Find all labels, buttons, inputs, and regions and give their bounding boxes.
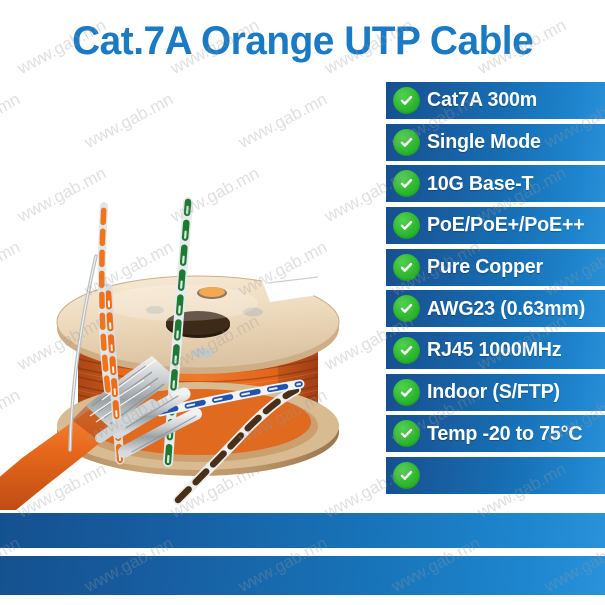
product-banner: Cat.7A Orange UTP Cable: [0, 0, 605, 605]
feature-row[interactable]: RJ45 1000MHz: [386, 332, 605, 369]
cable-spool-illustration: [0, 60, 392, 510]
feature-label: 10G Base-T: [427, 174, 533, 195]
feature-row[interactable]: Temp -20 to 75°C: [386, 415, 605, 452]
footer-bar-secondary: [0, 556, 605, 595]
page-title-container: Cat.7A Orange UTP Cable: [0, 10, 605, 72]
check-circle-icon: [393, 337, 420, 364]
feature-row[interactable]: Single Mode: [386, 124, 605, 161]
check-circle-icon: [393, 379, 420, 406]
feature-row[interactable]: Indoor (S/FTP): [386, 374, 605, 411]
feature-label: Single Mode: [427, 132, 541, 153]
product-photo: [0, 60, 392, 510]
feature-row[interactable]: [386, 457, 605, 494]
check-circle-icon: [393, 170, 420, 197]
check-circle-icon: [393, 295, 420, 322]
check-circle-icon: [393, 212, 420, 239]
feature-row[interactable]: AWG23 (0.63mm): [386, 290, 605, 327]
feature-label: RJ45 1000MHz: [427, 340, 561, 361]
feature-label: Pure Copper: [427, 257, 543, 278]
page-title: Cat.7A Orange UTP Cable: [72, 19, 533, 64]
feature-label: PoE/PoE+/PoE++: [427, 215, 585, 236]
feature-row[interactable]: 10G Base-T: [386, 165, 605, 202]
feature-label: Temp -20 to 75°C: [427, 424, 582, 445]
footer-bar-primary: [0, 513, 605, 548]
feature-row[interactable]: PoE/PoE+/PoE++: [386, 207, 605, 244]
feature-row[interactable]: Cat7A 300m: [386, 82, 605, 119]
check-circle-icon: [393, 129, 420, 156]
check-circle-icon: [393, 420, 420, 447]
feature-label: AWG23 (0.63mm): [427, 299, 585, 320]
check-circle-icon: [393, 254, 420, 281]
feature-row[interactable]: Pure Copper: [386, 249, 605, 286]
check-circle-icon: [393, 87, 420, 114]
feature-label: Indoor (S/FTP): [427, 382, 560, 403]
feature-list: Cat7A 300m Single Mode 10G Base-T PoE/Po…: [386, 82, 605, 494]
check-circle-icon: [393, 462, 420, 489]
spool-label: [262, 271, 338, 302]
spool-rivet: [192, 348, 214, 358]
feature-label: Cat7A 300m: [427, 90, 537, 111]
